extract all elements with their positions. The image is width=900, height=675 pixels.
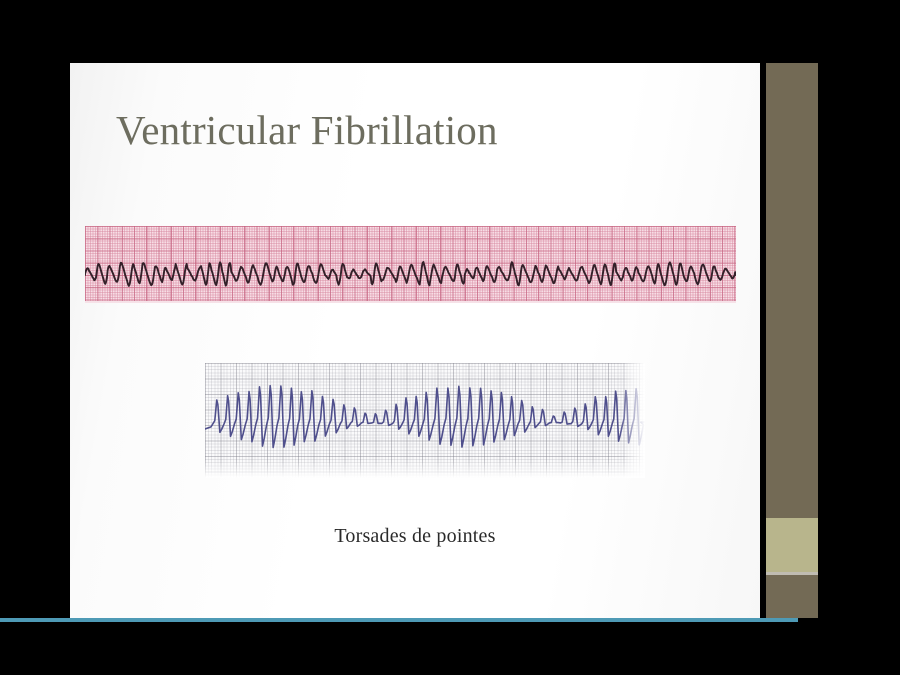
slide-scroll-thumb[interactable] <box>766 518 818 572</box>
ecg-strip-torsades-de-pointes <box>205 363 645 478</box>
slide-canvas: Ventricular Fibrillation Torsades de poi… <box>70 63 760 618</box>
ecg-strip-bleed <box>85 301 736 303</box>
paper-fade-bottom <box>205 460 645 478</box>
ecg-strip-ventricular-fibrillation <box>85 226 736 301</box>
rail-seam <box>766 572 818 575</box>
strip-caption: Torsades de pointes <box>70 525 760 548</box>
playback-progress-fill <box>0 618 798 622</box>
playback-progress-track[interactable] <box>0 618 900 622</box>
ecg-waveform-vf <box>85 226 736 301</box>
presentation-viewer: Ventricular Fibrillation Torsades de poi… <box>0 0 900 675</box>
page-title: Ventricular Fibrillation <box>116 108 498 154</box>
slide-scroll-rail[interactable] <box>766 63 818 618</box>
